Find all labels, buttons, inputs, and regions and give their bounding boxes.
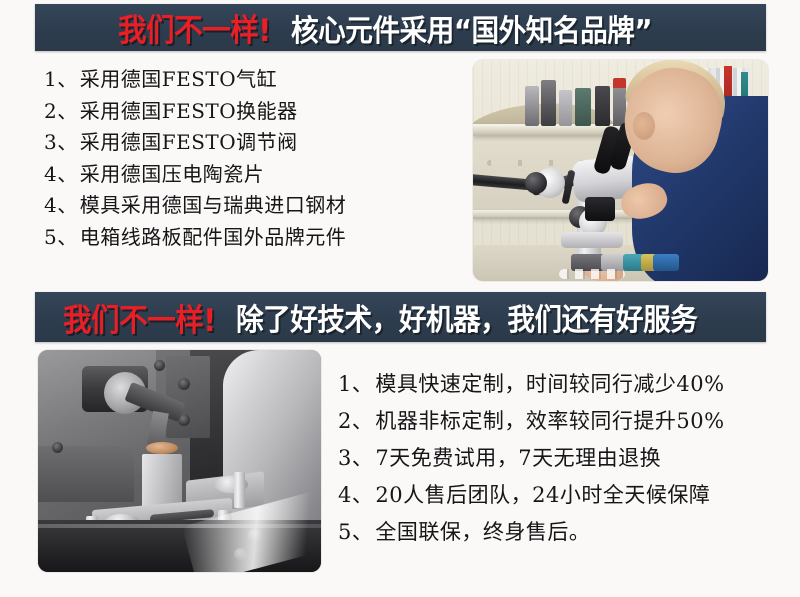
tool-holder (541, 80, 556, 126)
list-item-text: 全国联保，终身售后。 (375, 520, 590, 544)
promo-page: 我们不一样! 核心元件采用“国外知名品牌” 1、采用德国FESTO气缸 2、采用… (0, 0, 800, 597)
list-item-number: 5、 (338, 520, 373, 544)
list-item-text: 采用德国压电陶瓷片 (80, 162, 265, 186)
list-item: 1、采用德国FESTO气缸 (44, 64, 464, 96)
list-item-text: 电箱线路板配件国外品牌元件 (80, 225, 347, 249)
list-item-text: 模具采用德国与瑞典进口钢材 (80, 193, 347, 217)
list-item: 5、电箱线路板配件国外品牌元件 (44, 222, 464, 254)
section-1-banner: 我们不一样! 核心元件采用“国外知名品牌” (35, 4, 766, 51)
list-item: 3、采用德国FESTO调节阀 (44, 127, 464, 159)
list-item: 4、采用德国压电陶瓷片 (44, 159, 464, 191)
photo-scene (38, 350, 321, 572)
list-item: 4、模具采用德国与瑞典进口钢材 (44, 190, 464, 222)
list-item: 5、全国联保，终身售后。 (338, 514, 788, 551)
mounting-bolt-hole (178, 378, 190, 390)
list-item-text: 采用德国FESTO换能器 (80, 99, 298, 123)
frame-bolt-hole (52, 442, 63, 453)
microscope-base (561, 232, 623, 248)
arm-lock-knob (525, 172, 547, 194)
list-item-text: 机器非标定制，效率较同行提升50% (375, 409, 724, 433)
copper-workpiece (146, 442, 178, 454)
microscope-objective (585, 197, 615, 221)
banner-main-text: 核心元件采用“国外知名品牌” (291, 6, 652, 50)
list-item: 4、20人售后团队，24小时全天候保障 (338, 477, 788, 514)
technician-using-stereo-microscope-photo (473, 60, 768, 281)
metal-rings-on-table (559, 269, 625, 279)
frame-bolt-hole (154, 360, 165, 371)
list-item-number: 4、 (44, 162, 78, 186)
list-item-number: 4、 (44, 193, 78, 217)
list-item: 2、采用德国FESTO换能器 (44, 96, 464, 128)
banner-highlight-text: 我们不一样! (63, 295, 216, 340)
list-item-number: 3、 (44, 130, 78, 154)
list-item-number: 5、 (44, 225, 78, 249)
list-item: 3、7天免费试用，7天无理由退换 (338, 440, 788, 477)
list-item: 2、机器非标定制，效率较同行提升50% (338, 403, 788, 440)
list-item-text: 采用德国FESTO调节阀 (80, 130, 298, 154)
banner-main-text: 除了好技术，好机器，我们还有好服务 (236, 295, 697, 339)
section-2-banner: 我们不一样! 除了好技术，好机器，我们还有好服务 (35, 292, 766, 342)
list-item-number: 3、 (338, 446, 373, 470)
section-1-feature-list: 1、采用德国FESTO气缸 2、采用德国FESTO换能器 3、采用德国FESTO… (44, 64, 464, 253)
tool-holder-green (575, 88, 591, 126)
machine-frame-left-lower (38, 446, 134, 502)
tool-holder (525, 86, 539, 126)
mounting-plate (166, 356, 210, 438)
list-item-text: 模具快速定制，时间较同行减少40% (375, 372, 724, 396)
list-item-number: 2、 (338, 409, 373, 433)
lower-shelf (473, 210, 648, 219)
list-item-number: 1、 (338, 372, 373, 396)
list-item-text: 采用德国FESTO气缸 (80, 67, 277, 91)
technician-ear (633, 112, 655, 140)
tool-holder (595, 86, 610, 126)
part-blue (653, 254, 679, 271)
list-item-text: 7天免费试用，7天无理由退换 (375, 446, 661, 470)
section-2-feature-list: 1、模具快速定制，时间较同行减少40% 2、机器非标定制，效率较同行提升50% … (338, 366, 788, 551)
list-item-number: 1、 (44, 67, 78, 91)
ultrasonic-welding-tooling-photo (38, 350, 321, 572)
list-item-number: 2、 (44, 99, 78, 123)
aluminium-fixture-upright (142, 454, 182, 508)
photo-scene (473, 60, 768, 281)
banner-highlight-text: 我们不一样! (118, 5, 271, 50)
list-item-text: 20人售后团队，24小时全天候保障 (375, 483, 710, 507)
tool-holder (559, 90, 572, 126)
list-item: 1、模具快速定制，时间较同行减少40% (338, 366, 788, 403)
dowel-pin (234, 472, 245, 508)
list-item-number: 4、 (338, 483, 373, 507)
